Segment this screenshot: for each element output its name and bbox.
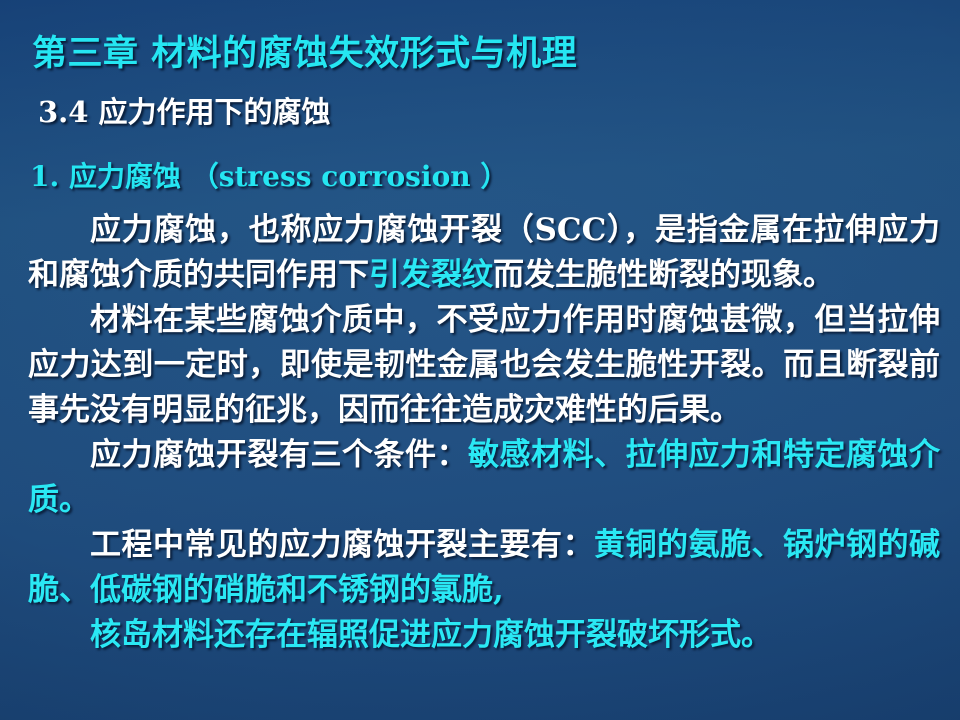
section-subtitle: 3.4 应力作用下的腐蚀 bbox=[38, 98, 331, 127]
paragraph-examples-segment-0: 工程中常见的应力腐蚀开裂主要有： bbox=[90, 527, 594, 563]
body-text-block: 应力腐蚀，也称应力腐蚀开裂（SCC），是指金属在拉伸应力和腐蚀介质的共同作用下引… bbox=[28, 208, 940, 658]
paragraph-definition-segment-1: 引发裂纹 bbox=[369, 257, 493, 293]
paragraph-conditions: 应力腐蚀开裂有三个条件：敏感材料、拉伸应力和特定腐蚀介质。 bbox=[28, 433, 940, 523]
paragraph-nuclear-segment-0: 核岛材料还存在辐照促进应力腐蚀开裂破坏形式。 bbox=[90, 617, 772, 653]
paragraph-conditions-segment-0: 应力腐蚀开裂有三个条件： bbox=[90, 437, 468, 473]
paragraph-nuclear: 核岛材料还存在辐照促进应力腐蚀开裂破坏形式。 bbox=[28, 613, 940, 658]
page-title: 第三章 材料的腐蚀失效形式与机理 bbox=[32, 36, 932, 71]
paragraph-definition-segment-2: 而发生脆性断裂的现象。 bbox=[493, 257, 834, 293]
paragraph-behaviour-segment-0: 材料在某些腐蚀介质中，不受应力作用时腐蚀甚微，但当拉伸应力达到一定时，即使是韧性… bbox=[28, 302, 940, 428]
slide-canvas: 第三章 材料的腐蚀失效形式与机理 3.4 应力作用下的腐蚀 1. 应力腐蚀 （s… bbox=[0, 0, 960, 720]
paragraph-behaviour: 材料在某些腐蚀介质中，不受应力作用时腐蚀甚微，但当拉伸应力达到一定时，即使是韧性… bbox=[28, 298, 940, 433]
paragraph-definition: 应力腐蚀，也称应力腐蚀开裂（SCC），是指金属在拉伸应力和腐蚀介质的共同作用下引… bbox=[28, 208, 940, 298]
topic-heading: 1. 应力腐蚀 （stress corrosion ） bbox=[30, 163, 508, 191]
paragraph-examples: 工程中常见的应力腐蚀开裂主要有：黄铜的氨脆、锅炉钢的碱脆、低碳钢的硝脆和不锈钢的… bbox=[28, 523, 940, 613]
